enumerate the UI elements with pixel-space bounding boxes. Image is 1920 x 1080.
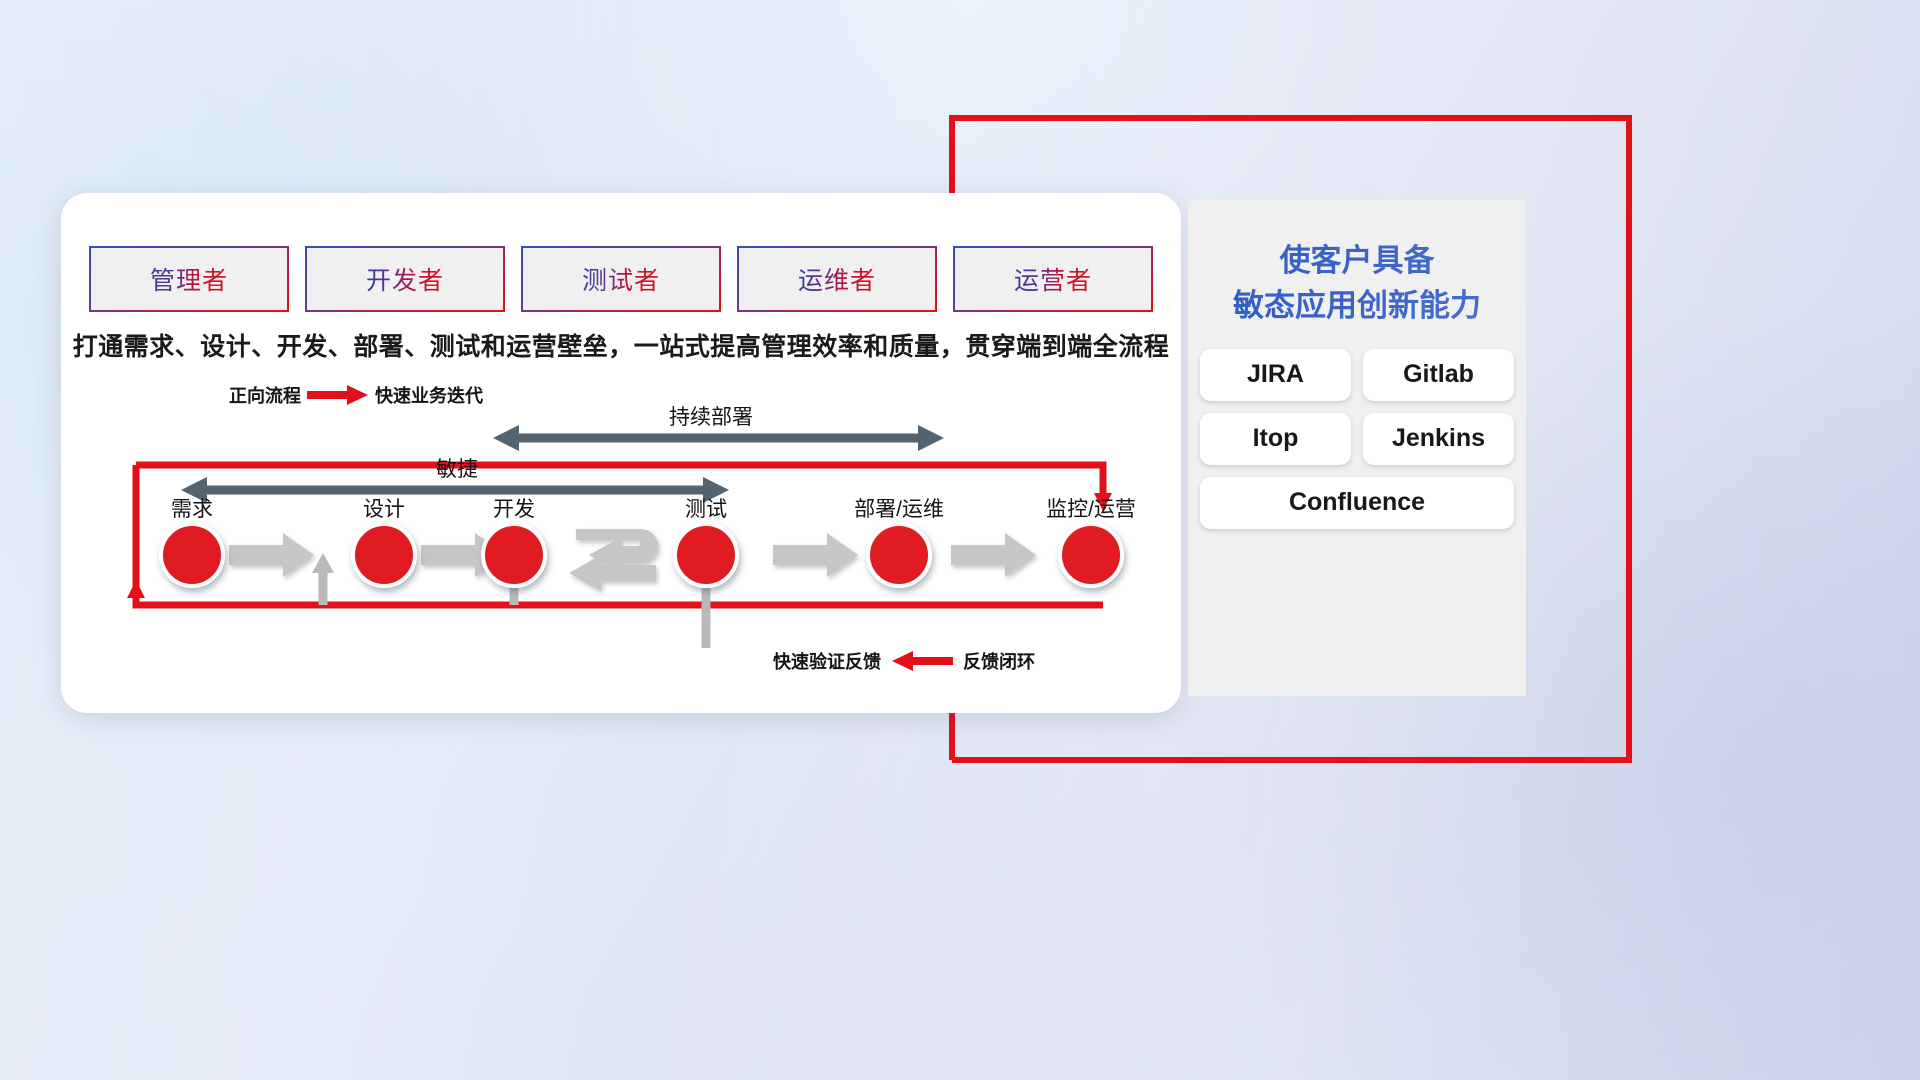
node-label-test: 测试	[685, 493, 727, 523]
tool-chip-list: JIRA Gitlab Itop Jenkins Confluence	[1200, 349, 1514, 529]
role-box-manager[interactable]: 管理者	[91, 248, 287, 310]
node-label-requirement: 需求	[171, 493, 213, 523]
tool-chip-gitlab[interactable]: Gitlab	[1363, 349, 1514, 401]
span-arrow-label-continuous-deployment: 持续部署	[669, 401, 753, 431]
node-label-develop: 开发	[493, 493, 535, 523]
role-label: 运营者	[1014, 261, 1092, 297]
tool-chip-itop[interactable]: Itop	[1200, 413, 1351, 465]
tool-chip-confluence[interactable]: Confluence	[1200, 477, 1514, 529]
tool-chip-jira[interactable]: JIRA	[1200, 349, 1351, 401]
role-box-developer[interactable]: 开发者	[307, 248, 503, 310]
node-label-deploy-ops: 部署/运维	[854, 493, 944, 523]
iteration-loop-arrow-icon	[569, 529, 658, 591]
panel-title-line2: 敏态应用创新能力	[1188, 283, 1526, 328]
value-proposition-panel: 使客户具备 敏态应用创新能力 JIRA Gitlab Itop Jenkins …	[1188, 200, 1526, 696]
role-label: 运维者	[798, 261, 876, 297]
role-box-ops[interactable]: 运维者	[739, 248, 935, 310]
tool-chip-jenkins[interactable]: Jenkins	[1363, 413, 1514, 465]
node-label-monitor-operate: 监控/运营	[1046, 493, 1136, 523]
panel-title: 使客户具备 敏态应用创新能力	[1188, 238, 1526, 329]
span-arrow-label-agile: 敏捷	[436, 453, 478, 483]
role-label: 开发者	[366, 261, 444, 297]
role-box-tester[interactable]: 测试者	[523, 248, 719, 310]
devops-flow-card: 管理者 开发者 测试者 运维者 运营者 打通需求、设计、开发、部署、测试和运营壁…	[61, 193, 1181, 713]
role-label: 管理者	[150, 261, 228, 297]
node-label-design: 设计	[363, 493, 405, 523]
role-box-row: 管理者 开发者 测试者 运维者 运营者	[91, 248, 1151, 312]
role-box-operator[interactable]: 运营者	[955, 248, 1151, 310]
role-label: 测试者	[582, 261, 660, 297]
panel-title-line1: 使客户具备	[1188, 238, 1526, 283]
